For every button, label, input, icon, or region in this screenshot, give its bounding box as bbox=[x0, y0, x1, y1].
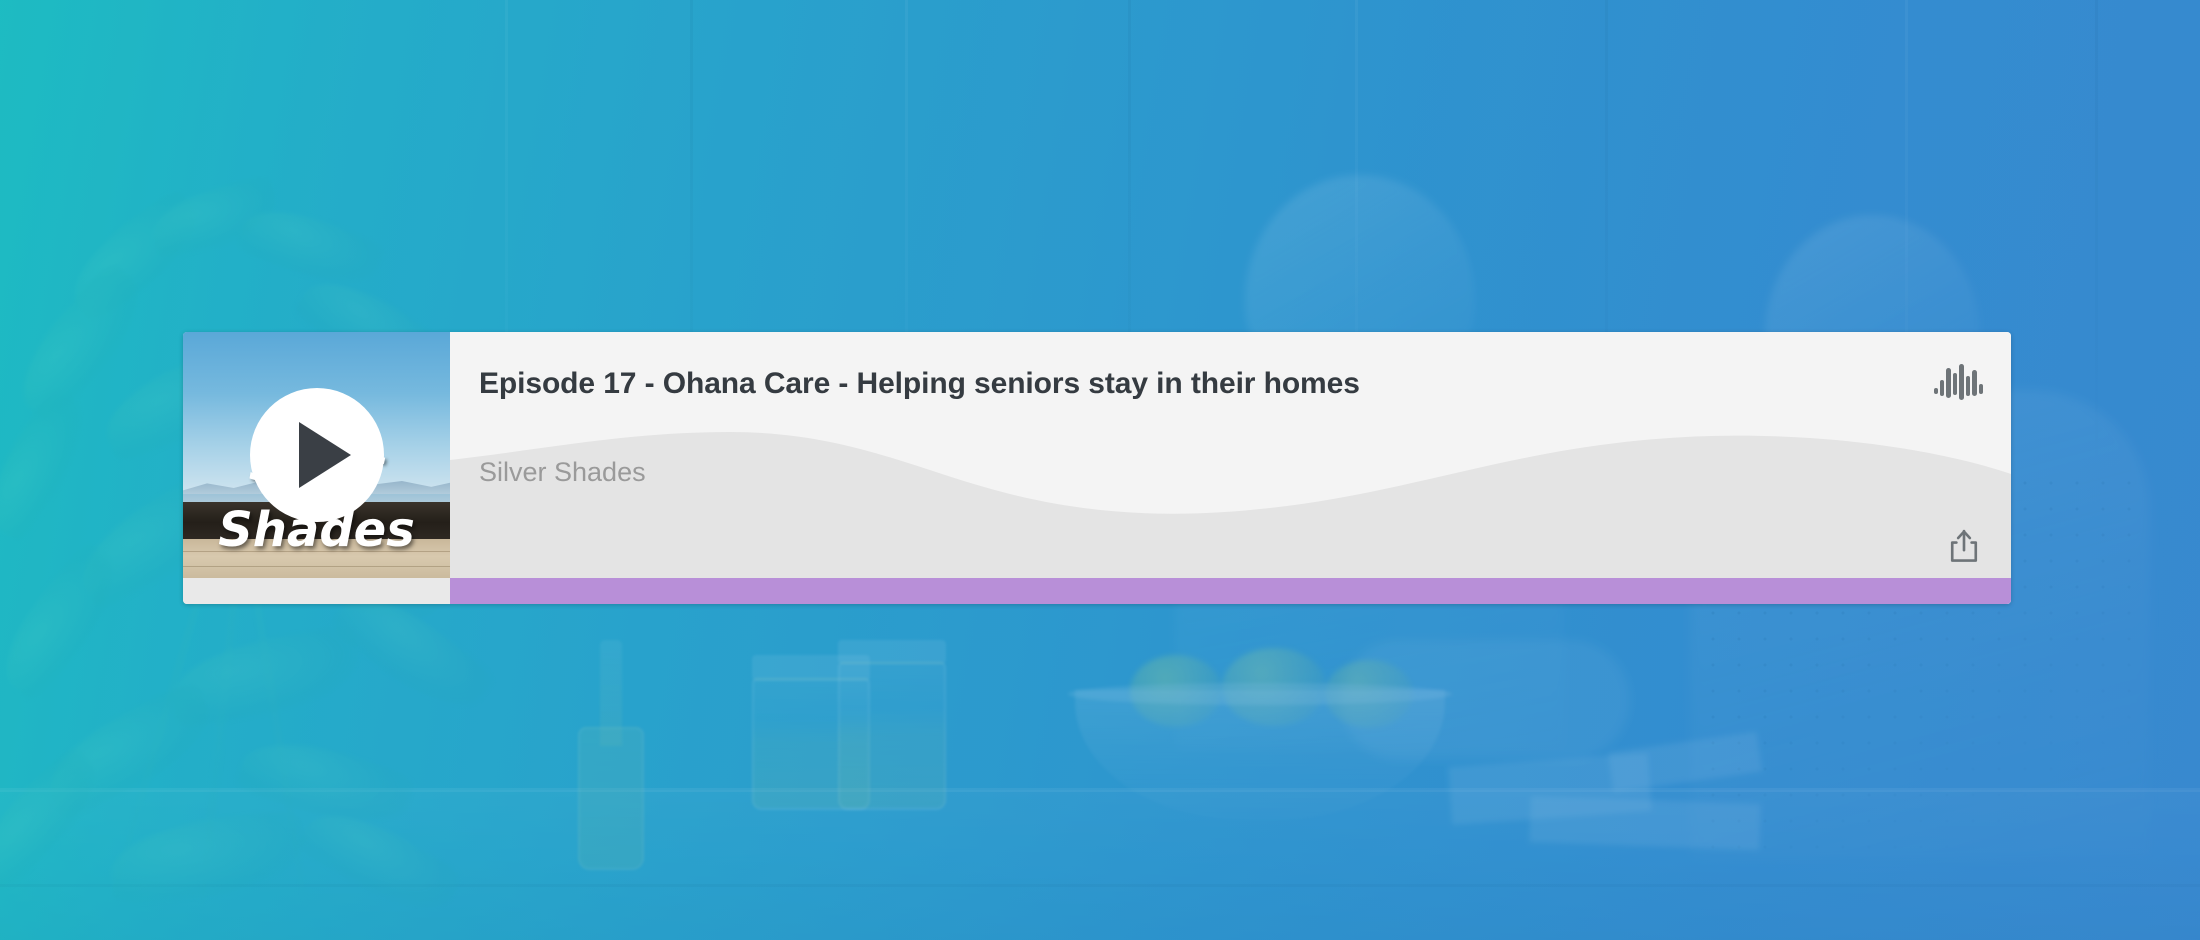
progress-bar[interactable] bbox=[183, 578, 2011, 604]
player-main-row: Silver Shades Episode 17 - Ohana Care - … bbox=[183, 332, 2011, 578]
episode-artwork[interactable]: Silver Shades bbox=[183, 332, 450, 578]
share-icon[interactable] bbox=[1947, 528, 1981, 564]
podcast-player-card[interactable]: Silver Shades Episode 17 - Ohana Care - … bbox=[183, 332, 2011, 604]
deck-plank-line bbox=[183, 566, 450, 567]
player-info-panel: Episode 17 - Ohana Care - Helping senior… bbox=[450, 332, 2011, 578]
podcast-name: Silver Shades bbox=[479, 457, 646, 488]
progress-bar-rail[interactable] bbox=[450, 578, 2011, 604]
play-button[interactable] bbox=[250, 388, 384, 522]
waveform-logo-icon[interactable] bbox=[1933, 362, 1985, 404]
progress-bar-fill bbox=[450, 578, 2011, 604]
progress-bar-spacer bbox=[183, 578, 450, 604]
episode-title: Episode 17 - Ohana Care - Helping senior… bbox=[479, 367, 1360, 401]
play-icon bbox=[299, 422, 351, 488]
